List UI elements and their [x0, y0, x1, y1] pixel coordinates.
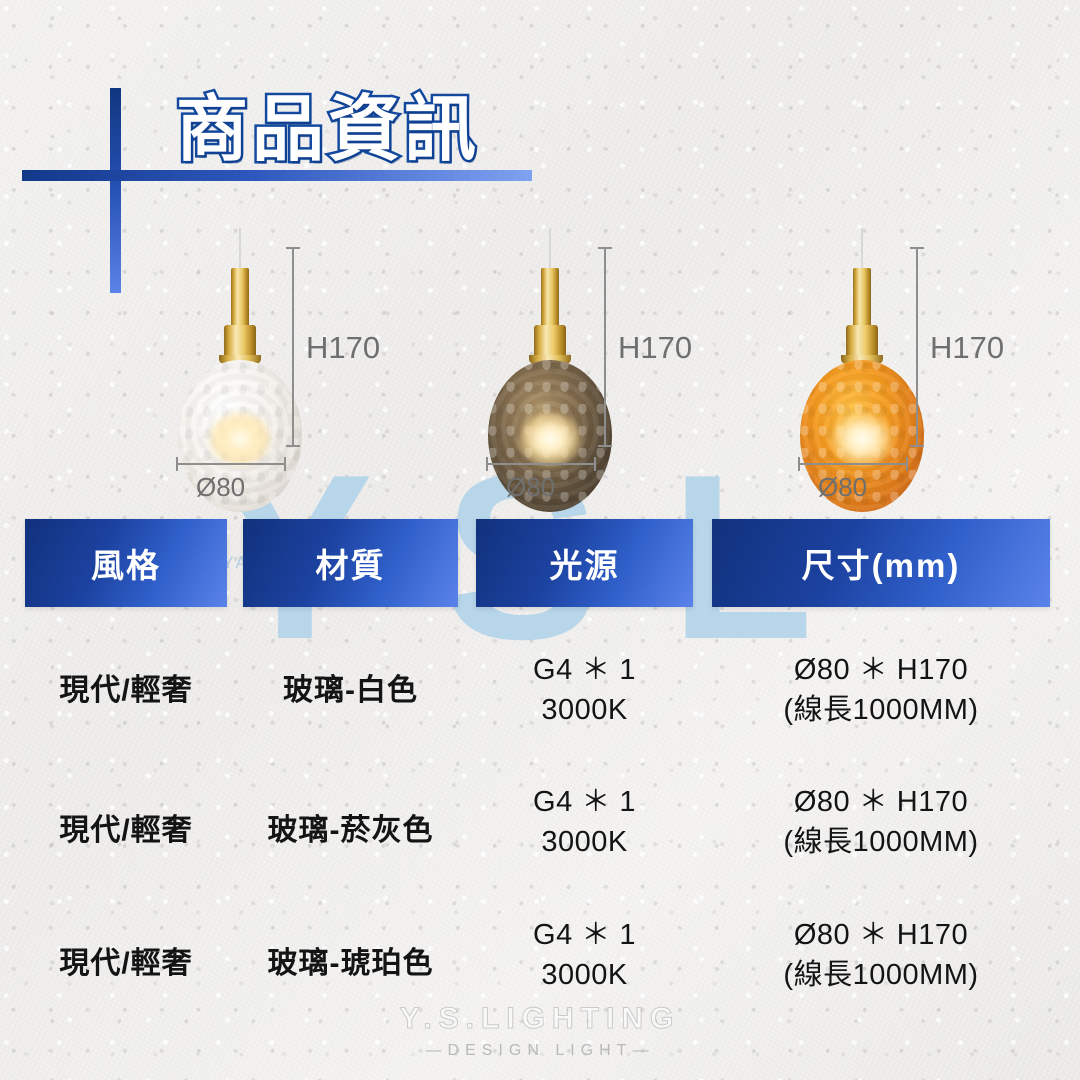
diameter-dimension-line-1	[176, 463, 286, 465]
bulb-glow	[209, 412, 271, 466]
bulb-glow	[831, 412, 893, 466]
brass-stem	[231, 268, 249, 330]
table-row: 現代/輕奢	[25, 665, 227, 709]
product-info-poster: YSL (株)YAMAMOTO Y 商品資訊 H170 Ø80 H170 Ø80	[0, 0, 1080, 1080]
table-row: 現代/輕奢	[25, 805, 227, 849]
table-row: Ø80 ＊ H170	[712, 780, 1050, 824]
brass-collar	[224, 325, 256, 359]
diameter-label-1: Ø80	[196, 472, 245, 503]
table-row: 玻璃-菸灰色	[243, 805, 458, 849]
footer-tagline: —DESIGN LIGHT—	[0, 1042, 1080, 1060]
height-dimension-line-1	[292, 247, 294, 447]
brass-collar	[534, 325, 566, 359]
brass-stem	[853, 268, 871, 330]
table-row: (線長1000MM)	[712, 688, 1050, 732]
table-row: 3000K	[476, 953, 693, 997]
height-dimension-line-2	[604, 247, 606, 447]
table-row: Ø80 ＊ H170	[712, 913, 1050, 957]
height-label-1: H170	[306, 330, 380, 366]
height-dimension-line-3	[916, 247, 918, 447]
bulb-glow	[519, 412, 581, 466]
cord-icon	[239, 228, 241, 270]
table-row: G4 ＊ 1	[476, 913, 693, 957]
table-row: Ø80 ＊ H170	[712, 648, 1050, 692]
table-row: (線長1000MM)	[712, 953, 1050, 997]
cord-icon	[861, 228, 863, 270]
footer-brand: Y.S.LIGHTING	[0, 1002, 1080, 1036]
cord-icon	[549, 228, 551, 270]
table-row: 3000K	[476, 820, 693, 864]
table-header-light: 光源	[476, 519, 693, 607]
table-row: 玻璃-白色	[243, 665, 458, 709]
diameter-label-3: Ø80	[818, 472, 867, 503]
table-row: 現代/輕奢	[25, 938, 227, 982]
page-title: 商品資訊	[176, 70, 480, 175]
brass-collar	[846, 325, 878, 359]
table-row: 3000K	[476, 688, 693, 732]
height-label-2: H170	[618, 330, 692, 366]
diameter-dimension-line-3	[798, 463, 908, 465]
diameter-dimension-line-2	[486, 463, 596, 465]
table-header-material: 材質	[243, 519, 458, 607]
table-row: (線長1000MM)	[712, 820, 1050, 864]
diameter-label-2: Ø80	[506, 472, 555, 503]
table-header-size: 尺寸(mm)	[712, 519, 1050, 607]
table-header-style: 風格	[25, 519, 227, 607]
height-label-3: H170	[930, 330, 1004, 366]
table-row: G4 ＊ 1	[476, 780, 693, 824]
table-row: G4 ＊ 1	[476, 648, 693, 692]
brass-stem	[541, 268, 559, 330]
table-row: 玻璃-琥珀色	[243, 938, 458, 982]
